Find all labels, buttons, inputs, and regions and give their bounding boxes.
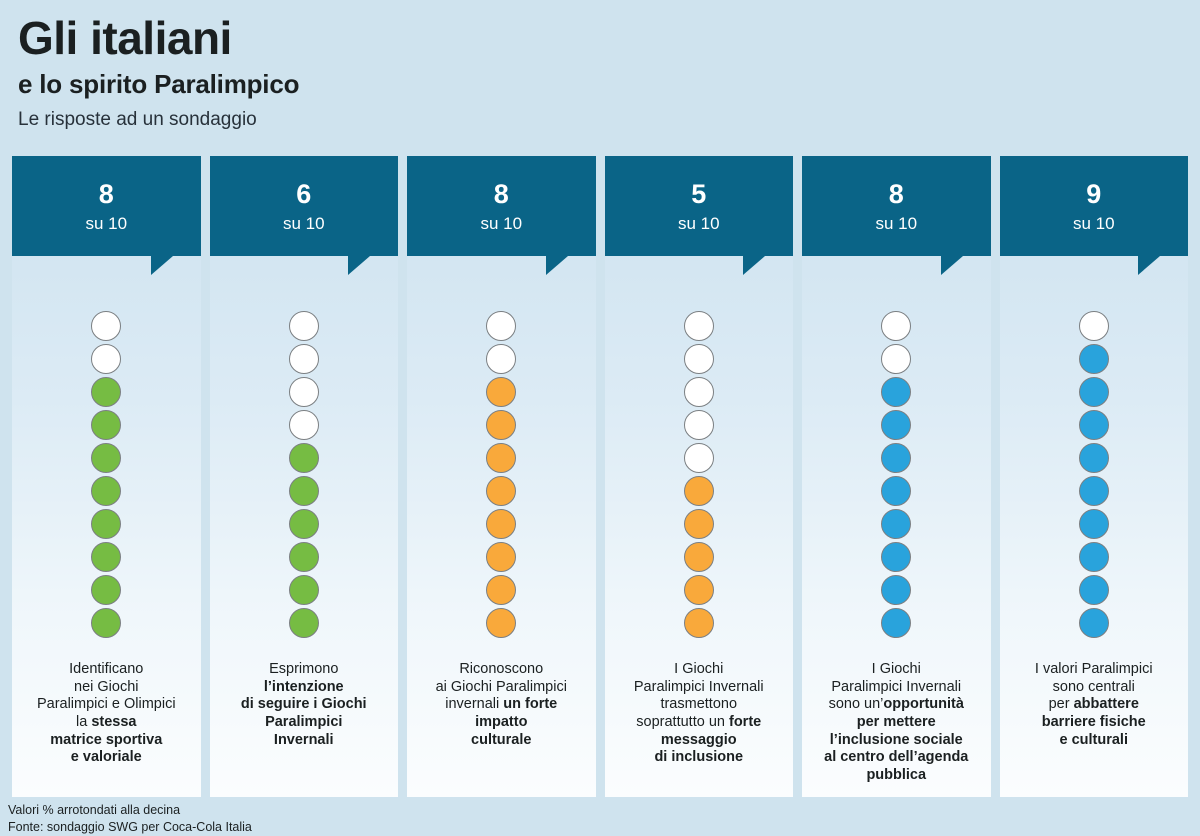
stat-column: 8su 10Riconosconoai Giochi Paralimpiciin… xyxy=(407,156,596,797)
dot-empty xyxy=(289,311,319,341)
stat-banner: 8su 10 xyxy=(407,156,596,256)
stat-banner: 8su 10 xyxy=(12,156,201,256)
stat-caption: I valori Paralimpicisono centraliper abb… xyxy=(1000,661,1189,749)
dot-empty xyxy=(289,410,319,440)
stat-banner: 8su 10 xyxy=(802,156,991,256)
stat-banner: 6su 10 xyxy=(210,156,399,256)
stat-unit-label: su 10 xyxy=(1073,215,1115,232)
page-kicker: Le risposte ad un sondaggio xyxy=(18,109,1200,132)
dot-filled xyxy=(289,509,319,539)
dot-filled xyxy=(881,443,911,473)
dot-meter xyxy=(1000,311,1189,638)
dot-meter xyxy=(802,311,991,638)
dot-filled xyxy=(486,542,516,572)
stat-number: 9 xyxy=(1086,181,1101,208)
dot-filled xyxy=(684,476,714,506)
stat-caption: Identificanonei GiochiParalimpici e Olim… xyxy=(12,661,201,767)
dot-filled xyxy=(1079,509,1109,539)
stat-column: 9su 10I valori Paralimpicisono centralip… xyxy=(1000,156,1189,797)
dot-filled xyxy=(289,476,319,506)
dot-filled xyxy=(881,410,911,440)
dot-filled xyxy=(486,476,516,506)
dot-filled xyxy=(881,542,911,572)
dot-filled xyxy=(289,608,319,638)
dot-filled xyxy=(684,608,714,638)
dot-filled xyxy=(1079,575,1109,605)
dot-filled xyxy=(91,575,121,605)
dot-empty xyxy=(91,344,121,374)
stat-number: 8 xyxy=(99,181,114,208)
dot-filled xyxy=(684,542,714,572)
dot-filled xyxy=(684,575,714,605)
footnote-line: Fonte: sondaggio SWG per Coca-Cola Itali… xyxy=(8,819,252,836)
speech-bubble-tail-icon xyxy=(348,256,370,275)
dot-empty xyxy=(881,311,911,341)
dot-empty xyxy=(289,344,319,374)
dot-filled xyxy=(1079,344,1109,374)
dot-filled xyxy=(1079,377,1109,407)
stat-unit-label: su 10 xyxy=(283,215,325,232)
stat-unit-label: su 10 xyxy=(678,215,720,232)
stat-number: 8 xyxy=(889,181,904,208)
dot-empty xyxy=(289,377,319,407)
dot-empty xyxy=(881,344,911,374)
stat-number: 8 xyxy=(494,181,509,208)
dot-empty xyxy=(684,311,714,341)
stat-unit-label: su 10 xyxy=(480,215,522,232)
dot-filled xyxy=(684,509,714,539)
dot-filled xyxy=(289,542,319,572)
dot-filled xyxy=(91,443,121,473)
dot-filled xyxy=(1079,443,1109,473)
dot-filled xyxy=(881,476,911,506)
dot-filled xyxy=(486,608,516,638)
dot-filled xyxy=(486,509,516,539)
stat-caption: I GiochiParalimpici Invernalisono un’opp… xyxy=(802,661,991,785)
stat-unit-label: su 10 xyxy=(85,215,127,232)
dot-empty xyxy=(1079,311,1109,341)
dot-empty xyxy=(684,344,714,374)
dot-filled xyxy=(91,476,121,506)
stat-banner: 5su 10 xyxy=(605,156,794,256)
stat-column: 5su 10I GiochiParalimpici Invernalitrasm… xyxy=(605,156,794,797)
dot-empty xyxy=(91,311,121,341)
stat-caption: Esprimonol’intenzionedi seguire i Giochi… xyxy=(210,661,399,749)
stat-number: 5 xyxy=(691,181,706,208)
dot-filled xyxy=(91,377,121,407)
dot-empty xyxy=(684,443,714,473)
dot-empty xyxy=(684,410,714,440)
footnotes: Valori % arrotondati alla decinaFonte: s… xyxy=(8,802,252,835)
dot-filled xyxy=(486,410,516,440)
dot-filled xyxy=(881,509,911,539)
dot-filled xyxy=(289,575,319,605)
dot-filled xyxy=(486,575,516,605)
dot-filled xyxy=(91,608,121,638)
stat-number: 6 xyxy=(296,181,311,208)
stat-column: 8su 10I GiochiParalimpici Invernalisono … xyxy=(802,156,991,797)
dot-meter xyxy=(605,311,794,638)
speech-bubble-tail-icon xyxy=(151,256,173,275)
dot-filled xyxy=(91,542,121,572)
dot-filled xyxy=(1079,542,1109,572)
speech-bubble-tail-icon xyxy=(1138,256,1160,275)
dot-filled xyxy=(289,443,319,473)
page-subtitle: e lo spirito Paralimpico xyxy=(18,70,1200,99)
dot-filled xyxy=(881,608,911,638)
speech-bubble-tail-icon xyxy=(743,256,765,275)
dot-filled xyxy=(1079,608,1109,638)
dot-meter xyxy=(12,311,201,638)
dot-filled xyxy=(881,575,911,605)
page-header: Gli italiani e lo spirito Paralimpico Le… xyxy=(0,0,1200,132)
dot-filled xyxy=(91,509,121,539)
dot-filled xyxy=(881,377,911,407)
dot-filled xyxy=(1079,410,1109,440)
stat-column: 8su 10Identificanonei GiochiParalimpici … xyxy=(12,156,201,797)
dot-meter xyxy=(407,311,596,638)
dot-empty xyxy=(684,377,714,407)
page-title: Gli italiani xyxy=(18,14,1200,64)
stat-caption: I GiochiParalimpici Invernalitrasmettono… xyxy=(605,661,794,767)
speech-bubble-tail-icon xyxy=(546,256,568,275)
stat-columns: 8su 10Identificanonei GiochiParalimpici … xyxy=(12,156,1188,797)
speech-bubble-tail-icon xyxy=(941,256,963,275)
dot-filled xyxy=(91,410,121,440)
dot-meter xyxy=(210,311,399,638)
stat-column: 6su 10Esprimonol’intenzionedi seguire i … xyxy=(210,156,399,797)
stat-banner: 9su 10 xyxy=(1000,156,1189,256)
stat-unit-label: su 10 xyxy=(875,215,917,232)
dot-filled xyxy=(486,443,516,473)
dot-filled xyxy=(486,377,516,407)
dot-filled xyxy=(1079,476,1109,506)
stat-caption: Riconosconoai Giochi Paralimpiciinvernal… xyxy=(407,661,596,749)
dot-empty xyxy=(486,344,516,374)
footnote-line: Valori % arrotondati alla decina xyxy=(8,802,252,819)
dot-empty xyxy=(486,311,516,341)
